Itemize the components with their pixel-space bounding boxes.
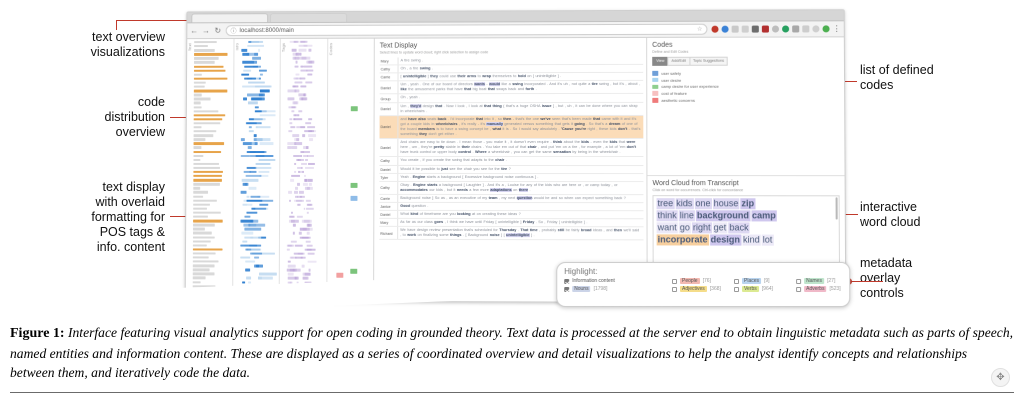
- word-cloud-word[interactable]: incorporate: [657, 234, 709, 245]
- transcript-row[interactable]: DanielWould it be possible to just see t…: [379, 165, 643, 173]
- transcript-row[interactable]: DanielUm , they'd design that . Now I lo…: [380, 102, 644, 115]
- word-cloud-word[interactable]: house: [713, 198, 740, 209]
- overview-bar: [194, 73, 202, 75]
- overview-bar: [303, 277, 307, 279]
- code-item[interactable]: user desire: [652, 77, 839, 82]
- utterance-text[interactable]: Background noise ] So as , as an executi…: [398, 195, 643, 202]
- overview-row: [240, 151, 278, 154]
- word-cloud-word[interactable]: want: [657, 222, 678, 233]
- utterance-text[interactable]: Um , yeah . One of our board of director…: [398, 81, 643, 94]
- checkbox[interactable]: [796, 287, 801, 292]
- extension-icon[interactable]: [732, 26, 739, 33]
- overview-bar: [307, 204, 312, 206]
- overview-bar: [193, 175, 221, 177]
- overview-bar: [248, 281, 252, 283]
- overview-row: [287, 118, 325, 121]
- overview-bar: [289, 122, 292, 124]
- overview-bar: [294, 114, 300, 116]
- overview-row: [240, 240, 278, 243]
- overview-bar: [251, 252, 263, 254]
- overview-bar: [308, 73, 312, 75]
- overview-row: [240, 191, 278, 194]
- overview-bar: [294, 191, 298, 193]
- overview-bar: [247, 195, 250, 197]
- speaker-label: Cathy: [379, 157, 398, 164]
- word-cloud-word[interactable]: think: [657, 210, 678, 221]
- overview-row: [240, 138, 278, 141]
- highlight-option[interactable]: Names[27]: [796, 278, 858, 284]
- overview-row: [287, 102, 325, 105]
- extension-icon[interactable]: [711, 26, 718, 33]
- overview-row: [194, 65, 232, 68]
- code-item[interactable]: user safety: [652, 70, 839, 75]
- overview-row: [287, 191, 325, 194]
- highlight-option[interactable]: Adverbs[523]: [796, 286, 858, 292]
- overview-row: [334, 195, 372, 198]
- overview-row: [240, 212, 278, 215]
- overview-row: [287, 240, 325, 243]
- overview-row: [241, 110, 279, 113]
- overview-row: [335, 85, 373, 88]
- word-cloud-word[interactable]: right: [692, 222, 712, 233]
- overview-bar: [287, 142, 296, 144]
- address-bar[interactable]: ⓘ localhost:8000/main ☆: [226, 24, 708, 36]
- overview-bar: [309, 134, 317, 136]
- code-label: user safety: [661, 71, 681, 76]
- overview-bar: [259, 69, 267, 71]
- overview-bar: [287, 248, 290, 250]
- word-cloud-line: treekidsonehousezip: [657, 198, 836, 210]
- highlight-option[interactable]: Adjectives[368]: [672, 286, 734, 292]
- speaker-label: Mary: [380, 57, 399, 64]
- overview-row: [288, 69, 326, 72]
- reload-icon[interactable]: ↻: [214, 27, 222, 35]
- overview-bar: [308, 179, 312, 181]
- overview-bar: [194, 53, 227, 55]
- overview-row: [194, 110, 232, 113]
- overview-row: [193, 203, 231, 206]
- forward-icon[interactable]: →: [202, 27, 210, 35]
- overview-row: [240, 248, 278, 251]
- code-item[interactable]: aesthetic concerns: [652, 98, 839, 103]
- overview-bar: [242, 61, 254, 63]
- overview-row: [335, 65, 373, 68]
- overview-bar: [193, 171, 223, 173]
- utterance-text[interactable]: Would it be possible to just see the cha…: [398, 165, 643, 172]
- overview-bar: [248, 45, 264, 47]
- overview-bar: [259, 273, 277, 275]
- highlight-option-count: [1798]: [594, 286, 608, 292]
- utterance-text[interactable]: Good question .: [398, 203, 643, 210]
- overview-bar: [193, 228, 204, 230]
- overview-row: [194, 94, 232, 97]
- overview-row: [287, 138, 325, 141]
- word-cloud-word[interactable]: line: [679, 210, 695, 221]
- overview-bar: [254, 118, 266, 120]
- transcript-row[interactable]: Danieland have also seats back . I'd inc…: [379, 116, 643, 140]
- highlight-option-label: People: [680, 278, 700, 284]
- extension-icon[interactable]: [742, 26, 749, 33]
- overview-bar: [300, 155, 302, 157]
- overview-row: [287, 142, 325, 145]
- checkbox[interactable]: [672, 279, 677, 284]
- overview-bar: [290, 179, 293, 181]
- overview-row: [335, 73, 373, 76]
- overview-row: [287, 106, 325, 109]
- overview-bar: [307, 232, 310, 234]
- extension-icon[interactable]: [722, 26, 729, 33]
- overview-row: [288, 81, 326, 84]
- word-cloud-word[interactable]: kids: [675, 198, 693, 209]
- utterance-text[interactable]: You create , if you create the swing tha…: [398, 157, 643, 164]
- overview-bar: [247, 277, 251, 279]
- overview-bar: [255, 126, 257, 128]
- overview-bar: [193, 155, 203, 157]
- speaker-label: Daniel: [379, 211, 398, 218]
- extension-icon[interactable]: [802, 25, 809, 32]
- overview-bar: [193, 199, 217, 201]
- transcript-row[interactable]: DanielUm , yeah . One of our board of di…: [380, 81, 644, 95]
- code-label: aesthetic concerns: [661, 98, 695, 103]
- checkbox[interactable]: [796, 278, 801, 283]
- overview-row: [193, 179, 231, 182]
- overview-column-tags[interactable]: Tags: [280, 39, 328, 303]
- overview-bar: [288, 265, 296, 267]
- overview-bar: [288, 90, 296, 92]
- word-cloud-word[interactable]: kind: [742, 235, 761, 246]
- overview-row: [288, 49, 326, 52]
- browser-tab[interactable]: [270, 13, 347, 22]
- overview-row: [194, 98, 232, 101]
- overview-row: [287, 220, 325, 223]
- overview-bar: [300, 228, 306, 230]
- overview-column-text[interactable]: Text: [186, 39, 234, 302]
- figure-caption: Figure 1: Interface featuring visual ana…: [10, 323, 1014, 383]
- overview-bar: [300, 85, 306, 87]
- speaker-label: Daniel: [379, 116, 398, 138]
- overview-row: [193, 224, 231, 227]
- highlight-title: Highlight:: [564, 267, 842, 276]
- overview-bar: [193, 265, 215, 267]
- overview-row: [334, 232, 372, 235]
- overview-bar: [296, 126, 305, 128]
- utterance-text[interactable]: Yeah . Engine starts a background [ Exce…: [398, 174, 643, 181]
- overview-bar: [296, 61, 298, 63]
- overview-bar: [255, 163, 270, 165]
- overview-row: [287, 236, 325, 239]
- highlight-option[interactable]: Nouns[1798]: [564, 286, 672, 292]
- overview-bar: [291, 240, 297, 242]
- overview-row: [193, 240, 231, 243]
- overview-row: [194, 114, 232, 117]
- overview-row: [287, 94, 325, 97]
- transcript-row[interactable]: CathyYou create , if you create the swin…: [379, 157, 643, 165]
- overview-row: [240, 236, 278, 239]
- leader-line: [116, 20, 117, 30]
- transcript-row[interactable]: DanielAnd chairs are easy to tie down . …: [379, 139, 643, 157]
- overview-row: [240, 187, 278, 190]
- back-icon[interactable]: ←: [190, 27, 198, 35]
- extension-icon[interactable]: [772, 26, 779, 33]
- overview-row: [194, 49, 232, 52]
- overview-bar: [299, 232, 302, 234]
- checkbox[interactable]: [734, 287, 739, 292]
- overview-bar: [293, 41, 298, 43]
- tab-topic-suggestions[interactable]: Topic Suggestions: [689, 57, 728, 66]
- overview-row: [194, 130, 232, 133]
- transcript-row[interactable]: TylerYeah . Engine starts a background […: [379, 174, 643, 182]
- overview-bar: [242, 183, 248, 185]
- overview-row: [240, 195, 278, 198]
- overview-bar: [292, 134, 298, 136]
- application-screenshot: ← → ↻ ⓘ localhost:8000/main ☆: [185, 9, 847, 303]
- code-item[interactable]: cost of feature: [652, 91, 839, 96]
- code-label: camp desire for user experience: [661, 84, 719, 89]
- overview-bar: [251, 142, 254, 144]
- overview-row: [240, 167, 278, 170]
- overview-row: [288, 90, 326, 93]
- checkbox[interactable]: [564, 286, 569, 291]
- overview-bar: [246, 199, 262, 201]
- overview-bar: [240, 191, 247, 193]
- overview-bar: [246, 248, 251, 250]
- utterance-text[interactable]: Um , they'd design that . Now I look , I…: [398, 102, 643, 114]
- overview-row: [240, 203, 278, 206]
- code-item[interactable]: camp desire for user experience: [652, 84, 839, 89]
- star-icon[interactable]: ☆: [697, 26, 702, 33]
- word-cloud-word[interactable]: design: [710, 234, 741, 245]
- word-cloud-word[interactable]: back: [728, 222, 749, 233]
- extension-icon[interactable]: [752, 26, 759, 33]
- move-handle-icon[interactable]: ✥: [991, 368, 1010, 387]
- overview-bar: [304, 45, 313, 47]
- overview-bar: [303, 183, 308, 185]
- checkbox[interactable]: [564, 279, 569, 284]
- overview-row: [334, 151, 372, 154]
- overview-row: [241, 49, 279, 52]
- highlight-option[interactable]: People[76]: [672, 278, 734, 284]
- overview-bar: [193, 207, 207, 209]
- overview-bar: [244, 77, 256, 79]
- word-cloud-scrollbar[interactable]: [836, 197, 838, 219]
- highlight-option[interactable]: Information content: [564, 278, 672, 284]
- speaker-label: Daniel: [379, 165, 398, 172]
- overview-row: [240, 228, 278, 231]
- overview-row: [240, 142, 278, 145]
- utterance-text[interactable]: What kind of timeframe are you looking a…: [398, 211, 643, 218]
- tab-view[interactable]: View: [652, 57, 667, 66]
- overview-row: [240, 126, 278, 129]
- overview-bar: [194, 134, 214, 136]
- extension-icon[interactable]: [822, 25, 829, 32]
- overview-row: [334, 130, 372, 133]
- overview-bar: [194, 49, 215, 51]
- overview-bar: [288, 130, 292, 132]
- overview-bar: [241, 138, 245, 140]
- overview-bar: [245, 236, 261, 238]
- overview-bar: [244, 216, 250, 218]
- word-cloud-word[interactable]: background: [696, 210, 750, 221]
- utterance-text[interactable]: Okay . Engine starts a background [ Laug…: [398, 182, 643, 194]
- extension-icon[interactable]: [762, 26, 769, 33]
- overview-bar: [295, 81, 303, 83]
- codes-list: user safetyuser desirecamp desire for us…: [652, 70, 839, 103]
- overview-row: [287, 163, 325, 166]
- browser-tab-active[interactable]: [191, 13, 268, 22]
- overview-bar: [256, 265, 259, 267]
- overview-bar: [294, 171, 296, 173]
- overview-row: [334, 212, 372, 215]
- overview-bar: [194, 77, 227, 79]
- overview-row: [288, 57, 326, 60]
- overview-bar: [194, 110, 218, 112]
- overview-row: [241, 69, 279, 72]
- word-cloud-word[interactable]: lot: [762, 235, 774, 246]
- overview-row: [287, 126, 325, 129]
- overview-column-codes[interactable]: Codes: [327, 39, 374, 303]
- overview-bar: [299, 191, 304, 193]
- overview-row: [193, 151, 231, 154]
- transcript-row[interactable]: RichardWe have design review presentatio…: [379, 227, 643, 241]
- overview-bar: [240, 256, 250, 258]
- checkbox[interactable]: [672, 286, 677, 291]
- word-cloud-word[interactable]: get: [713, 222, 728, 233]
- overview-bar: [245, 175, 261, 177]
- overview-row: [287, 224, 325, 227]
- overview-row: [193, 212, 231, 215]
- overview-row: [334, 200, 372, 203]
- overview-row: [193, 207, 231, 210]
- overview-column-info[interactable]: Info: [233, 39, 281, 303]
- overview-bar: [304, 208, 306, 210]
- overview-bar: [298, 253, 304, 255]
- overview-bar: [250, 171, 257, 173]
- overview-row: [240, 179, 278, 182]
- browser-toolbar: ← → ↻ ⓘ localhost:8000/main ☆: [187, 21, 844, 39]
- speaker-label: Carrie: [379, 195, 398, 202]
- overview-row: [288, 85, 326, 88]
- overview-row: [194, 45, 232, 48]
- word-cloud-word[interactable]: camp: [751, 210, 777, 221]
- overview-row: [334, 204, 372, 207]
- overview-row: [334, 138, 372, 141]
- text-display-title: Text Display: [380, 42, 643, 50]
- transcript-row[interactable]: CarrieBackground noise ] So as , as an e…: [379, 195, 643, 203]
- utterance-text[interactable]: Oh , a tire swing .: [399, 65, 644, 73]
- overview-bar: [253, 57, 262, 59]
- overview-bar: [193, 244, 207, 246]
- utterance-text[interactable]: [ unintelligible ] they could use their …: [399, 73, 644, 81]
- overview-bar: [309, 138, 313, 140]
- overview-bar: [193, 212, 221, 214]
- overview-bar: [194, 90, 227, 92]
- annotation-word-cloud: interactive word cloud: [860, 200, 1020, 230]
- text-display-subtitle: Select lines to update word cloud; right…: [380, 50, 643, 55]
- overview-row: [288, 41, 326, 44]
- overview-column-label: Info: [234, 43, 239, 50]
- overview-row: [240, 208, 278, 211]
- speaker-label: Cathy: [379, 182, 398, 194]
- utterance-text[interactable]: We have design review presentation that'…: [398, 227, 643, 240]
- overview-bar: [300, 53, 302, 55]
- word-cloud-word[interactable]: tree: [657, 198, 675, 209]
- utterance-text[interactable]: and have also seats back . I'd incorpora…: [398, 116, 643, 139]
- overview-row: [334, 183, 372, 186]
- extension-icon[interactable]: [782, 25, 789, 32]
- overview-row: [287, 171, 325, 174]
- transcript-list[interactable]: MaryA tire swing .CathyOh , a tire swing…: [379, 57, 643, 241]
- overview-bar: [245, 261, 255, 263]
- utterance-text[interactable]: And chairs are easy to tie down . I mean…: [398, 139, 643, 156]
- overview-row: [240, 265, 278, 268]
- overview-row: [241, 90, 279, 93]
- overview-bar: [254, 134, 256, 136]
- overview-bar: [307, 212, 309, 214]
- overview-row: [287, 232, 325, 235]
- code-color-swatch: [652, 98, 658, 103]
- overview-bar: [308, 269, 310, 271]
- tab-add-edit[interactable]: Add/Edit: [667, 57, 689, 66]
- overview-bar: [251, 41, 263, 43]
- overview-row: [287, 114, 325, 117]
- overview-bar: [193, 236, 215, 238]
- utterance-text[interactable]: Oh , yeah .: [398, 94, 643, 101]
- overview-visualizations: Text Info Tags Codes: [186, 39, 375, 303]
- word-cloud-word[interactable]: one: [694, 198, 711, 209]
- overview-bar: [242, 203, 247, 205]
- word-cloud-canvas[interactable]: treekidsonehousezipthinklinebackgroundca…: [653, 195, 840, 264]
- word-cloud-word[interactable]: zip: [740, 198, 755, 209]
- overview-bar: [260, 73, 263, 75]
- overview-row: [193, 195, 231, 198]
- code-color-swatch: [652, 84, 658, 89]
- overview-row: [287, 159, 325, 162]
- overview-bar: [242, 73, 249, 75]
- checkbox[interactable]: [734, 278, 739, 283]
- overview-row: [288, 77, 326, 80]
- overview-row: [334, 244, 372, 247]
- overview-row: [334, 253, 372, 256]
- overview-row: [194, 90, 232, 93]
- overview-row: [287, 216, 325, 219]
- overview-bar: [300, 236, 309, 238]
- overview-bar: [194, 142, 225, 144]
- transcript-row[interactable]: CathyOkay . Engine starts a background […: [379, 182, 643, 195]
- speaker-label: Carrie: [380, 74, 399, 81]
- overview-bar: [289, 199, 291, 201]
- overview-bar: [248, 81, 265, 83]
- overview-bar: [253, 208, 266, 210]
- overview-row: [335, 69, 373, 72]
- extension-icon[interactable]: [792, 25, 799, 32]
- overview-row: [288, 73, 326, 76]
- overview-row: [194, 41, 232, 44]
- overview-bar: [296, 138, 299, 140]
- overview-bar: [249, 130, 253, 132]
- overview-bar: [247, 203, 253, 205]
- utterance-text[interactable]: As far as our class goes , I think we ha…: [398, 219, 643, 226]
- highlight-option[interactable]: Verbs[964]: [734, 286, 796, 292]
- word-cloud-word[interactable]: go: [679, 222, 691, 233]
- overview-bar: [193, 256, 209, 258]
- extension-icon[interactable]: [812, 25, 819, 32]
- overview-bar: [307, 261, 316, 263]
- kebab-menu-icon[interactable]: ⋮: [833, 26, 841, 32]
- overview-row: [287, 98, 325, 101]
- highlight-option[interactable]: Places[9]: [734, 278, 796, 284]
- utterance-text[interactable]: A tire swing .: [399, 57, 644, 65]
- overview-row: [334, 187, 372, 190]
